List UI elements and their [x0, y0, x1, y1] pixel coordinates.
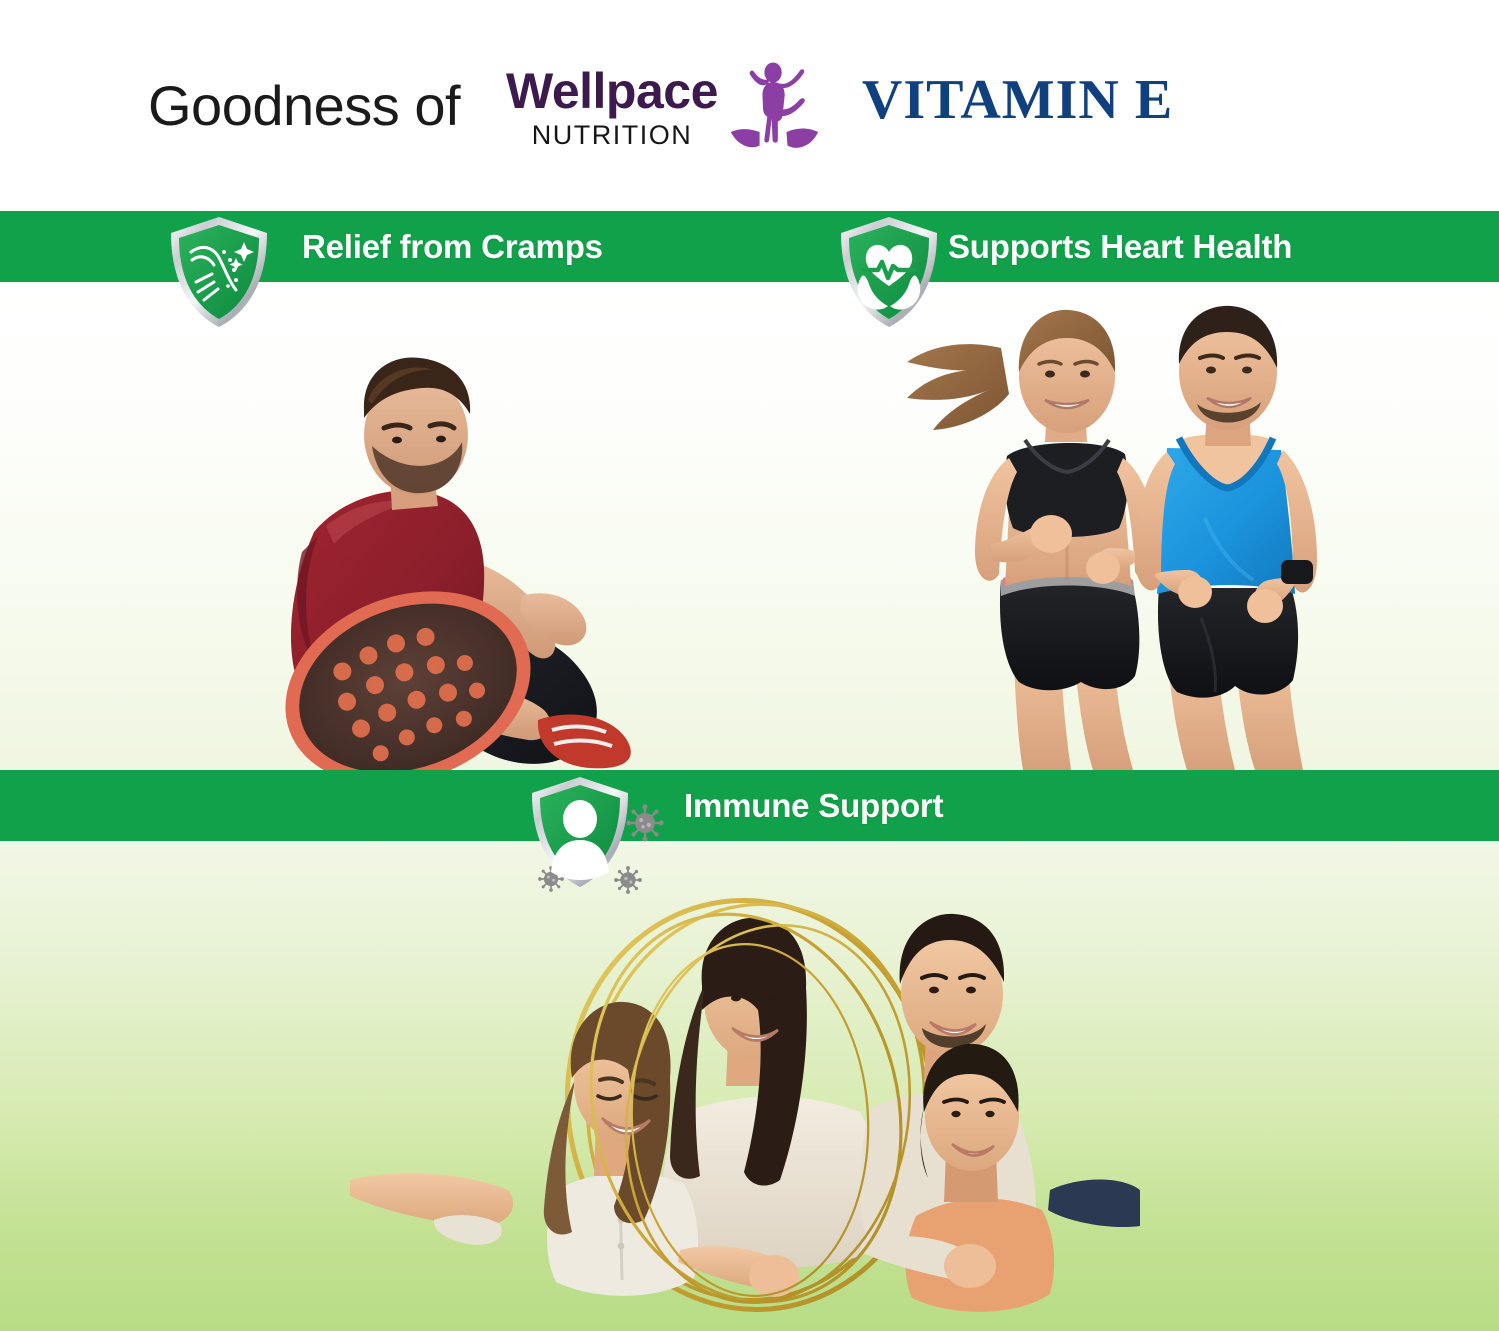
- banner-label-supports-heart-health: Supports Heart Health: [948, 228, 1292, 266]
- brand-name: Wellpace: [506, 66, 718, 116]
- brand-wordmark: Wellpace NUTRITION: [506, 66, 718, 149]
- infographic-page: Goodness of Wellpace NUTRITION VITAMI: [0, 0, 1499, 1331]
- happy-family-photo: [350, 890, 1140, 1331]
- jogging-couple-photo: [905, 288, 1325, 770]
- person-silhouette-shield-icon: [527, 774, 633, 890]
- brand-subtitle: NUTRITION: [532, 122, 692, 149]
- brand-logo: Wellpace NUTRITION: [506, 55, 822, 161]
- banner-label-relief-from-cramps: Relief from Cramps: [302, 228, 603, 266]
- page-title: Goodness of: [148, 78, 460, 134]
- product-name: VITAMIN E: [862, 68, 1173, 132]
- leg-cramp-shield-icon: [166, 214, 272, 330]
- heart-in-hands-shield-icon: [836, 214, 942, 330]
- athlete-cramp-photo: [222, 300, 652, 770]
- person-leaves-icon: [726, 57, 822, 161]
- header: Goodness of Wellpace NUTRITION VITAMI: [0, 0, 1499, 211]
- banner-label-immune-support: Immune Support: [684, 787, 943, 825]
